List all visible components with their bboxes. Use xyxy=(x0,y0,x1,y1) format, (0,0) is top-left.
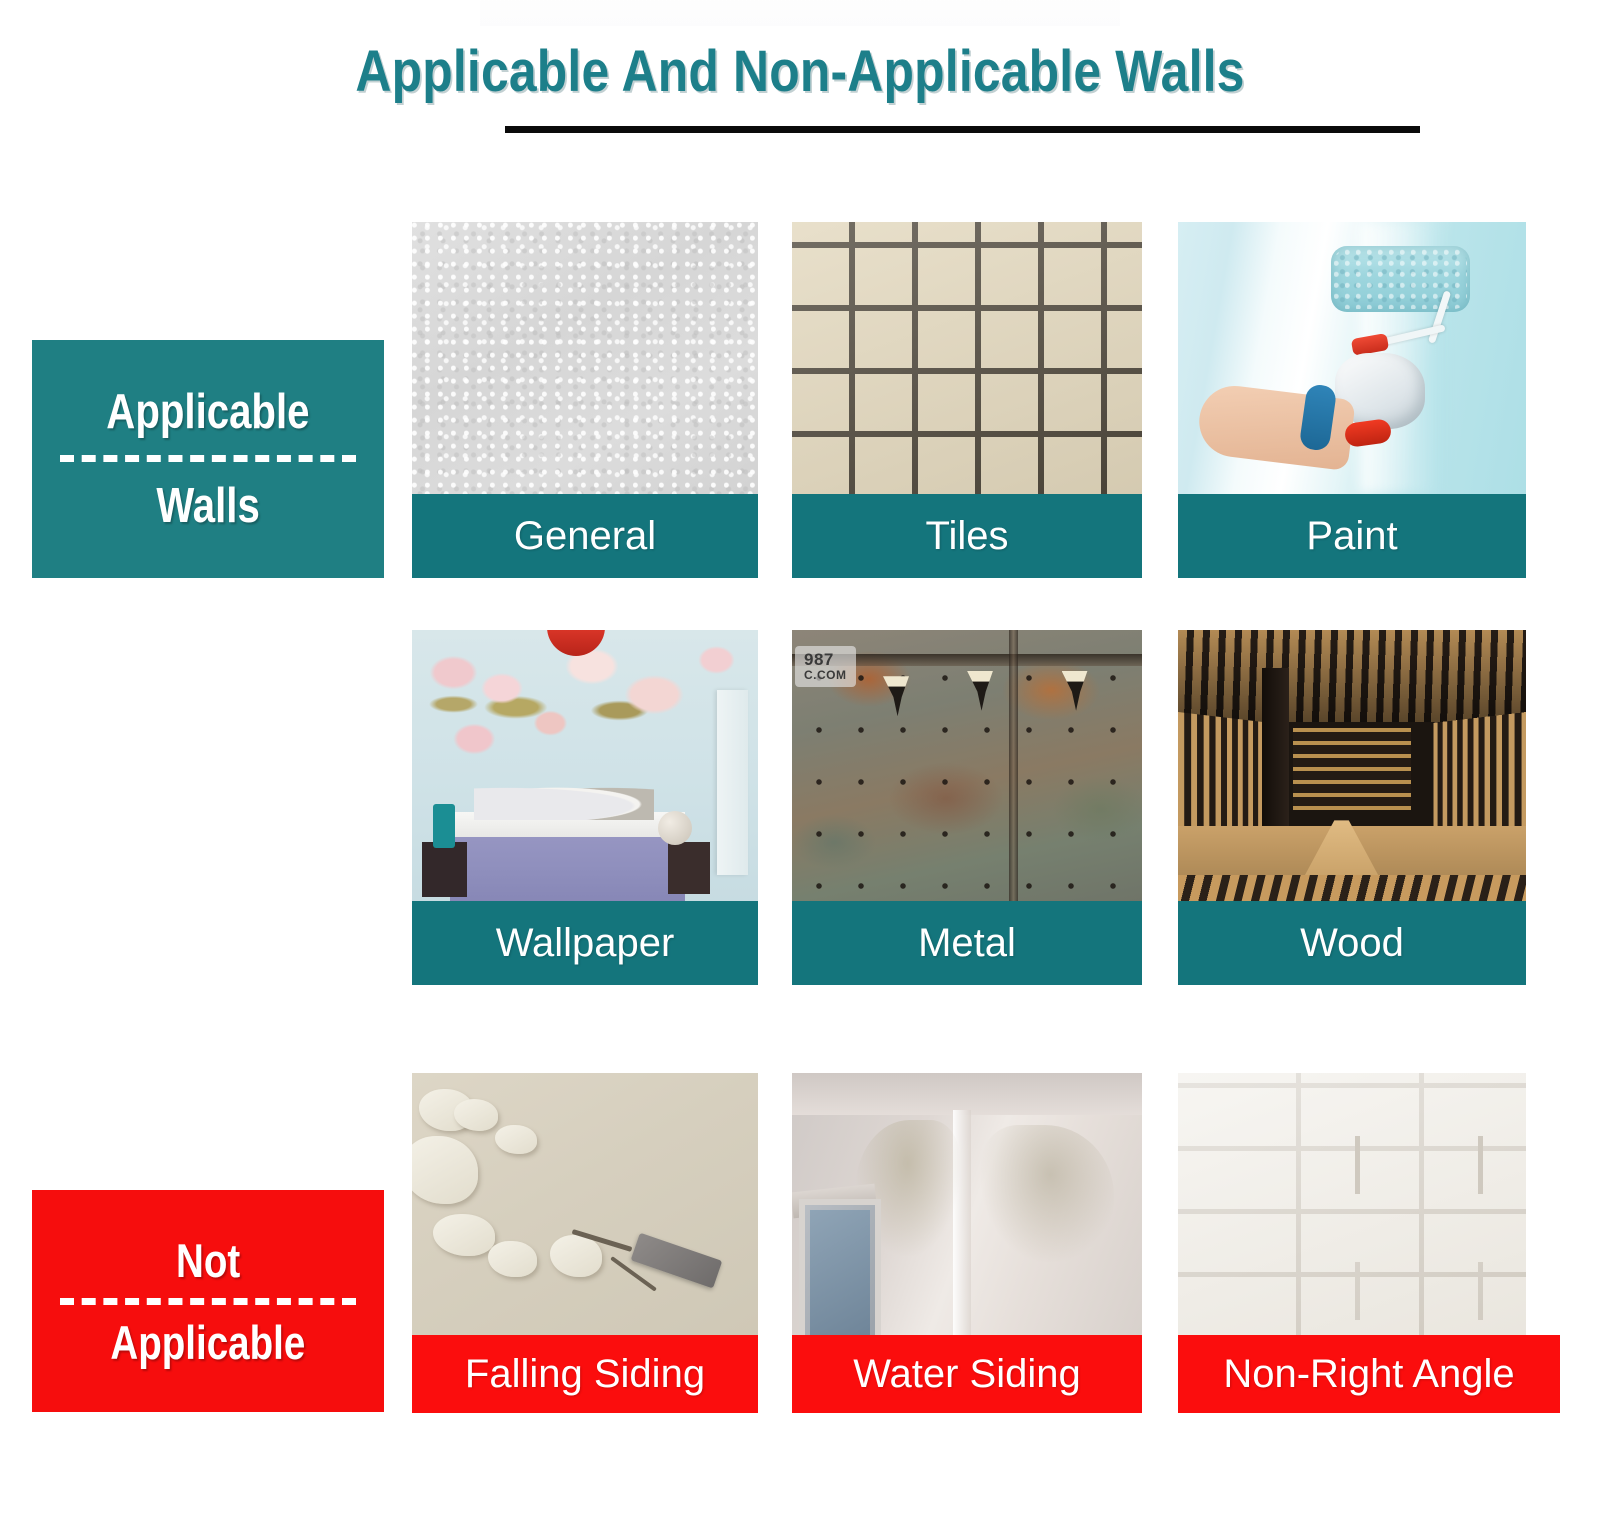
paint-caption-text: Paint xyxy=(1306,516,1397,556)
not-applicable-label-divider xyxy=(60,1298,356,1305)
watermark-line1: 987 xyxy=(804,651,847,669)
falling-siding-caption-text: Falling Siding xyxy=(465,1354,705,1394)
not-applicable-label-panel: Not Applicable xyxy=(32,1190,384,1412)
falling-siding-caption-bar: Falling Siding xyxy=(412,1335,758,1413)
applicable-label-line2: Walls xyxy=(156,482,259,531)
card-metal[interactable]: 987 C.COM Metal xyxy=(792,630,1142,985)
tiles-caption-bar: Tiles xyxy=(792,494,1142,578)
wood-interior-photo xyxy=(1178,630,1526,902)
wood-caption-text: Wood xyxy=(1300,923,1404,963)
general-wall-photo xyxy=(412,222,758,494)
wood-caption-bar: Wood xyxy=(1178,901,1526,985)
title-underline-rule xyxy=(505,126,1420,133)
page-title: Applicable And Non-Applicable Walls xyxy=(112,42,1488,103)
stock-photo-watermark: 987 C.COM xyxy=(795,646,856,687)
non-right-angle-caption-bar: Non-Right Angle xyxy=(1178,1335,1560,1413)
applicable-label-line1: Applicable xyxy=(106,388,309,437)
card-falling-siding[interactable]: Falling Siding xyxy=(412,1073,758,1413)
general-caption-text: General xyxy=(514,516,656,556)
wallpaper-room-photo xyxy=(412,630,758,902)
top-cutoff-sliver xyxy=(480,0,1120,26)
falling-siding-photo xyxy=(412,1073,758,1335)
paint-roller-icon xyxy=(1331,246,1470,311)
wallpaper-caption-bar: Wallpaper xyxy=(412,901,758,985)
card-water-siding[interactable]: Water Siding xyxy=(792,1073,1142,1413)
card-paint[interactable]: Paint xyxy=(1178,222,1526,578)
general-caption-bar: General xyxy=(412,494,758,578)
card-tiles[interactable]: Tiles xyxy=(792,222,1142,578)
metal-caption-text: Metal xyxy=(918,923,1016,963)
watermark-line2: C.COM xyxy=(804,669,847,682)
not-applicable-label-line1: Not xyxy=(176,1237,240,1284)
water-siding-caption-text: Water Siding xyxy=(853,1354,1081,1394)
paint-wall-photo xyxy=(1178,222,1526,494)
card-general[interactable]: General xyxy=(412,222,758,578)
non-right-angle-caption-text: Non-Right Angle xyxy=(1223,1354,1514,1394)
paint-caption-bar: Paint xyxy=(1178,494,1526,578)
applicable-label-divider xyxy=(60,455,356,462)
metal-wall-photo: 987 C.COM xyxy=(792,630,1142,902)
title-block: Applicable And Non-Applicable Walls xyxy=(0,42,1600,103)
applicable-walls-label-panel: Applicable Walls xyxy=(32,340,384,578)
water-siding-photo xyxy=(792,1073,1142,1335)
card-wallpaper[interactable]: Wallpaper xyxy=(412,630,758,985)
not-applicable-label-line2: Applicable xyxy=(111,1319,306,1366)
tiles-wall-photo xyxy=(792,222,1142,494)
tiles-caption-text: Tiles xyxy=(926,516,1009,556)
card-wood[interactable]: Wood xyxy=(1178,630,1526,985)
metal-caption-bar: Metal xyxy=(792,901,1142,985)
window-frame xyxy=(799,1199,881,1335)
non-right-angle-photo xyxy=(1178,1073,1526,1335)
wallpaper-caption-text: Wallpaper xyxy=(496,923,675,963)
card-non-right-angle[interactable]: Non-Right Angle xyxy=(1178,1073,1526,1413)
water-siding-caption-bar: Water Siding xyxy=(792,1335,1142,1413)
